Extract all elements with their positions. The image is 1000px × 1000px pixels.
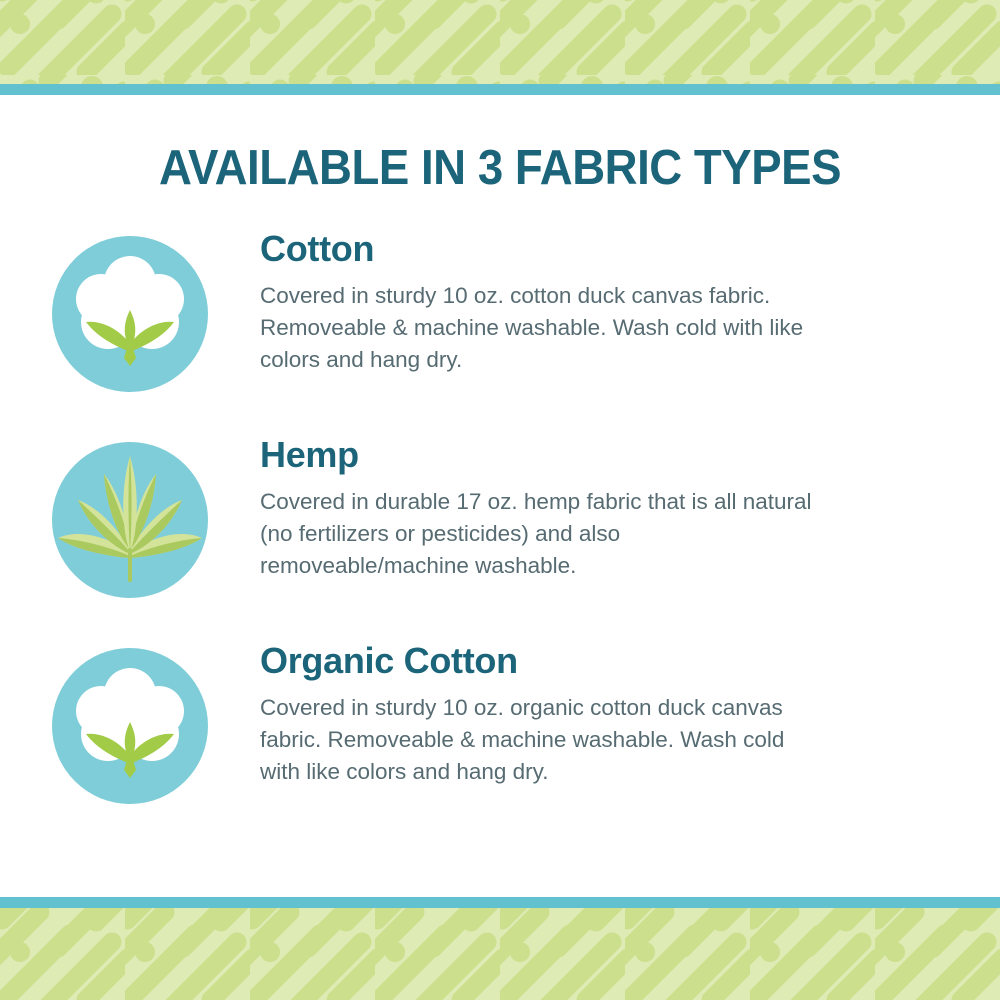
icon-cell-cotton <box>0 230 260 399</box>
fabric-description-hemp: Covered in durable 17 oz. hemp fabric th… <box>260 486 820 582</box>
text-cell-cotton: Cotton Covered in sturdy 10 oz. cotton d… <box>260 230 1000 376</box>
fabric-types-infographic: AVAILABLE IN 3 FABRIC TYPES <box>0 0 1000 1000</box>
fabric-name-cotton: Cotton <box>260 230 930 268</box>
top-accent-rule <box>0 84 1000 95</box>
bottom-accent-rule <box>0 897 1000 908</box>
top-decorative-band <box>0 0 1000 84</box>
cotton-boll-icon <box>50 646 210 811</box>
diagonal-dash-pattern-top <box>0 0 1000 84</box>
fabric-row-hemp: Hemp Covered in durable 17 oz. hemp fabr… <box>0 436 1000 605</box>
page-title: AVAILABLE IN 3 FABRIC TYPES <box>35 140 965 196</box>
icon-cell-hemp <box>0 436 260 605</box>
icon-cell-organic-cotton <box>0 642 260 811</box>
cotton-boll-icon <box>50 234 210 399</box>
fabric-row-organic-cotton: Organic Cotton Covered in sturdy 10 oz. … <box>0 642 1000 811</box>
fabric-list: Cotton Covered in sturdy 10 oz. cotton d… <box>0 230 1000 811</box>
fabric-name-organic-cotton: Organic Cotton <box>260 642 930 680</box>
text-cell-organic-cotton: Organic Cotton Covered in sturdy 10 oz. … <box>260 642 1000 788</box>
fabric-description-cotton: Covered in sturdy 10 oz. cotton duck can… <box>260 280 820 376</box>
fabric-name-hemp: Hemp <box>260 436 930 474</box>
text-cell-hemp: Hemp Covered in durable 17 oz. hemp fabr… <box>260 436 1000 582</box>
main-content: AVAILABLE IN 3 FABRIC TYPES <box>0 95 1000 897</box>
bottom-decorative-band <box>0 908 1000 1000</box>
fabric-description-organic-cotton: Covered in sturdy 10 oz. organic cotton … <box>260 692 820 788</box>
fabric-row-cotton: Cotton Covered in sturdy 10 oz. cotton d… <box>0 230 1000 399</box>
hemp-leaf-icon <box>50 440 210 605</box>
diagonal-dash-pattern-bottom <box>0 908 1000 1000</box>
